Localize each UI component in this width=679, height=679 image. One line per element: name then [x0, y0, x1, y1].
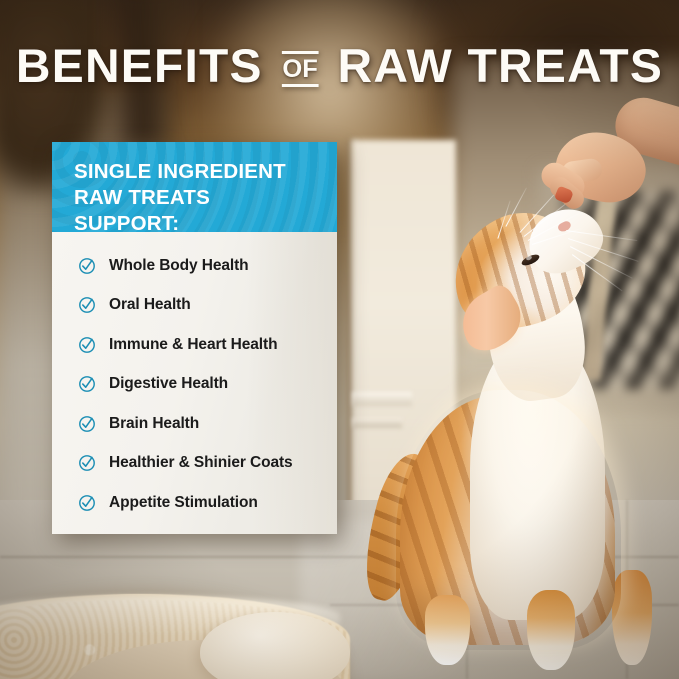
benefit-label: Healthier & Shinier Coats: [109, 454, 293, 472]
check-circle-icon: [78, 494, 96, 512]
check-circle-icon: [78, 257, 96, 275]
promo-image: BENEFITS OF RAW TREATS SINGLE INGREDIENT…: [0, 0, 679, 679]
page-title: BENEFITS OF RAW TREATS: [0, 42, 679, 89]
benefit-label: Digestive Health: [109, 375, 228, 393]
check-circle-icon: [78, 454, 96, 472]
title-part-1: BENEFITS: [16, 39, 263, 92]
check-circle-icon: [78, 415, 96, 433]
benefit-item: Appetite Stimulation: [52, 483, 337, 523]
check-circle-icon: [78, 375, 96, 393]
benefits-card-header: SINGLE INGREDIENT RAW TREATS SUPPORT:: [52, 142, 337, 232]
title-of-word: OF: [277, 57, 323, 82]
photo-baseboard-lower: [352, 418, 402, 428]
benefit-label: Immune & Heart Health: [109, 336, 277, 354]
benefit-label: Appetite Stimulation: [109, 494, 258, 512]
benefit-item: Healthier & Shinier Coats: [52, 444, 337, 484]
benefit-item: Digestive Health: [52, 365, 337, 405]
benefit-item: Brain Health: [52, 404, 337, 444]
benefits-card-header-line-2: RAW TREATS SUPPORT:: [74, 185, 319, 237]
check-circle-icon: [78, 336, 96, 354]
benefit-item: Oral Health: [52, 286, 337, 326]
cat-rim-light: [396, 390, 621, 650]
benefit-label: Brain Health: [109, 415, 199, 433]
benefits-card-header-line-1: SINGLE INGREDIENT: [74, 159, 319, 185]
benefits-card: SINGLE INGREDIENT RAW TREATS SUPPORT: Wh…: [52, 142, 337, 534]
benefit-label: Oral Health: [109, 296, 191, 314]
check-circle-icon: [78, 296, 96, 314]
benefit-item: Immune & Heart Health: [52, 325, 337, 365]
benefit-label: Whole Body Health: [109, 257, 249, 275]
benefits-list: Whole Body HealthOral HealthImmune & Hea…: [52, 232, 337, 534]
photo-baseboard-upper: [352, 392, 412, 406]
benefit-item: Whole Body Health: [52, 246, 337, 286]
title-part-2: RAW TREATS: [337, 39, 663, 92]
